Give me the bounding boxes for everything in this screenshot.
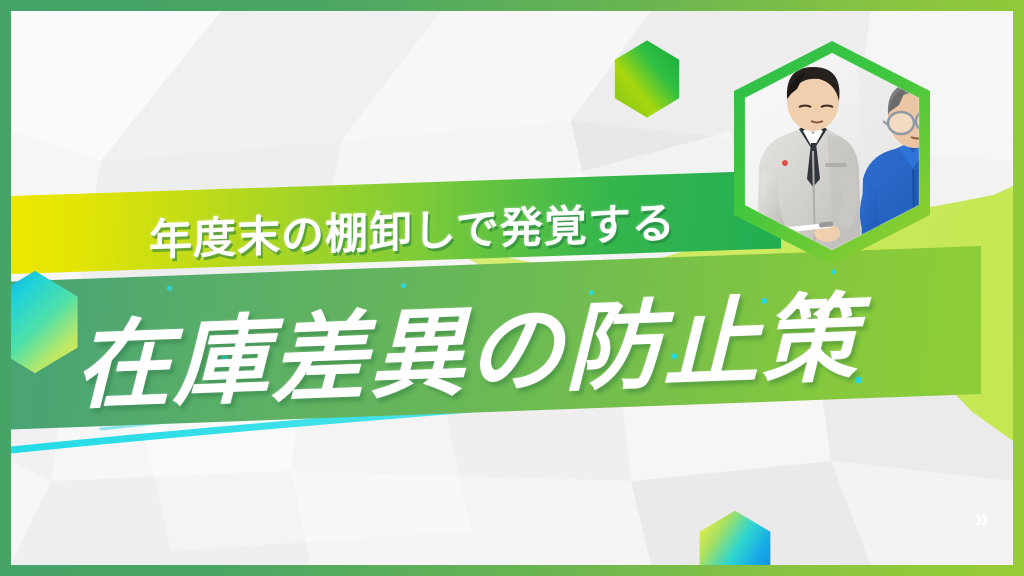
slide-inner-canvas: 年度末の棚卸しで発覚する 在庫差異の防止策: [11, 11, 1013, 565]
green-gradient-hexagon-icon: [611, 39, 683, 119]
title-text: 在庫差異の防止策: [75, 271, 955, 413]
next-chevron-icon[interactable]: »: [975, 505, 987, 531]
cyan-blue-gradient-hexagon-icon: [695, 509, 775, 565]
cyan-yellow-gradient-hexagon-icon: [11, 269, 83, 375]
slide-canvas: 年度末の棚卸しで発覚する 在庫差異の防止策: [0, 0, 1024, 576]
